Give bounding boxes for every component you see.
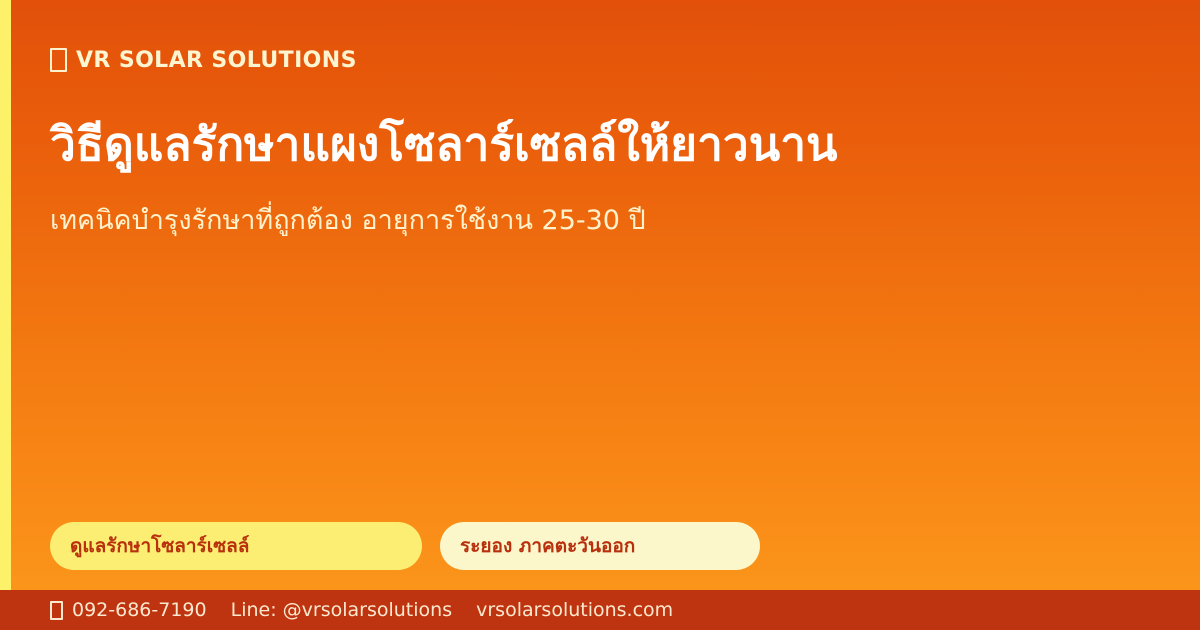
phone-group[interactable]: 092-686-7190 bbox=[50, 599, 207, 621]
promo-banner: VR SOLAR SOLUTIONS วิธีดูแลรักษาแผงโซลาร… bbox=[0, 0, 1200, 630]
missing-glyph-box-icon bbox=[50, 601, 63, 620]
banner-content: VR SOLAR SOLUTIONS วิธีดูแลรักษาแผงโซลาร… bbox=[50, 0, 1200, 630]
tag-pill-group: ดูแลรักษาโซลาร์เซลล์ ระยอง ภาคตะวันออก bbox=[50, 522, 760, 570]
missing-glyph-box-icon bbox=[50, 48, 67, 72]
brand-name: VR SOLAR SOLUTIONS bbox=[76, 48, 357, 73]
website-url[interactable]: vrsolarsolutions.com bbox=[476, 599, 673, 621]
contact-footer-items: 092-686-7190 Line: @vrsolarsolutions vrs… bbox=[50, 590, 673, 630]
tag-pill-location[interactable]: ระยอง ภาคตะวันออก bbox=[440, 522, 760, 570]
line-id[interactable]: Line: @vrsolarsolutions bbox=[231, 599, 453, 621]
tag-pill-service[interactable]: ดูแลรักษาโซลาร์เซลล์ bbox=[50, 522, 422, 570]
brand-lockup: VR SOLAR SOLUTIONS bbox=[50, 44, 357, 76]
page-subtitle: เทคนิคบำรุงรักษาที่ถูกต้อง อายุการใช้งาน… bbox=[50, 203, 1130, 238]
left-accent-bar bbox=[0, 0, 11, 590]
page-title: วิธีดูแลรักษาแผงโซลาร์เซลล์ให้ยาวนาน bbox=[50, 116, 1130, 174]
contact-footer: 092-686-7190 Line: @vrsolarsolutions vrs… bbox=[0, 590, 1200, 630]
phone-number: 092-686-7190 bbox=[72, 599, 207, 621]
